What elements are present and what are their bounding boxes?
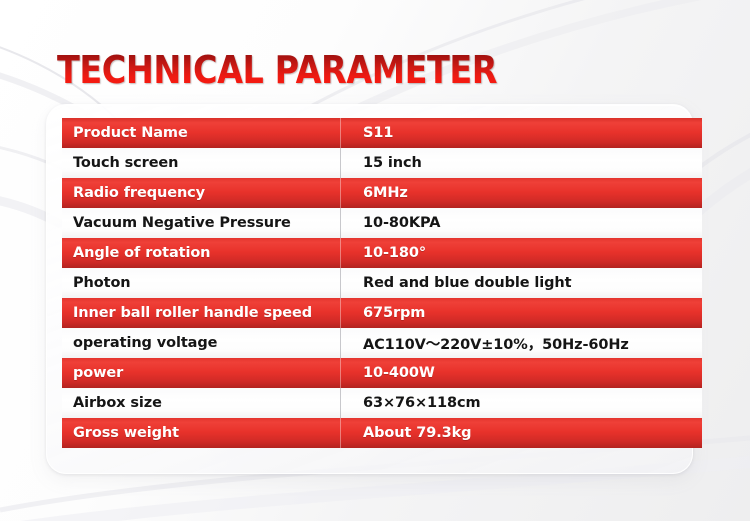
param-name-cell: Product Name <box>62 118 341 148</box>
param-name-cell: Photon <box>62 268 341 298</box>
param-name-cell: power <box>62 358 341 388</box>
param-value-cell: AC110V〜220V±10%，50Hz-60Hz <box>341 328 702 358</box>
page-title-wrap: TECHNICAL PARAMETER <box>57 48 557 94</box>
table-row: Radio frequency 6MHz <box>62 178 702 208</box>
table-row: operating voltage AC110V〜220V±10%，50Hz-6… <box>62 328 702 358</box>
table-row: Touch screen 15 inch <box>62 148 702 178</box>
param-name-cell: Radio frequency <box>62 178 341 208</box>
param-value-cell: About 79.3kg <box>341 418 702 448</box>
param-name-cell: operating voltage <box>62 328 341 358</box>
param-value-cell: 10-80KPA <box>341 208 702 238</box>
page-title: TECHNICAL PARAMETER <box>57 48 497 92</box>
param-name-cell: Angle of rotation <box>62 238 341 268</box>
table-row: Airbox size 63×76×118cm <box>62 388 702 418</box>
specification-table: Product Name S11 Touch screen 15 inch Ra… <box>62 118 702 448</box>
param-value-cell: 15 inch <box>341 148 702 178</box>
param-value-cell: 10-400W <box>341 358 702 388</box>
table-row: Inner ball roller handle speed 675rpm <box>62 298 702 328</box>
param-name-cell: Inner ball roller handle speed <box>62 298 341 328</box>
param-name-cell: Touch screen <box>62 148 341 178</box>
param-value-cell: Red and blue double light <box>341 268 702 298</box>
param-value-cell: 63×76×118cm <box>341 388 702 418</box>
page-root: TECHNICAL PARAMETER Product Name S11 Tou… <box>0 0 750 521</box>
param-name-cell: Vacuum Negative Pressure <box>62 208 341 238</box>
table-row: power 10-400W <box>62 358 702 388</box>
table-row: Photon Red and blue double light <box>62 268 702 298</box>
param-name-cell: Airbox size <box>62 388 341 418</box>
table-row: Product Name S11 <box>62 118 702 148</box>
param-value-cell: 10-180° <box>341 238 702 268</box>
param-value-cell: 6MHz <box>341 178 702 208</box>
table-row: Angle of rotation 10-180° <box>62 238 702 268</box>
param-name-cell: Gross weight <box>62 418 341 448</box>
param-value-cell: S11 <box>341 118 702 148</box>
table-row: Gross weight About 79.3kg <box>62 418 702 448</box>
specification-table-body: Product Name S11 Touch screen 15 inch Ra… <box>62 118 702 448</box>
param-value-cell: 675rpm <box>341 298 702 328</box>
table-row: Vacuum Negative Pressure 10-80KPA <box>62 208 702 238</box>
